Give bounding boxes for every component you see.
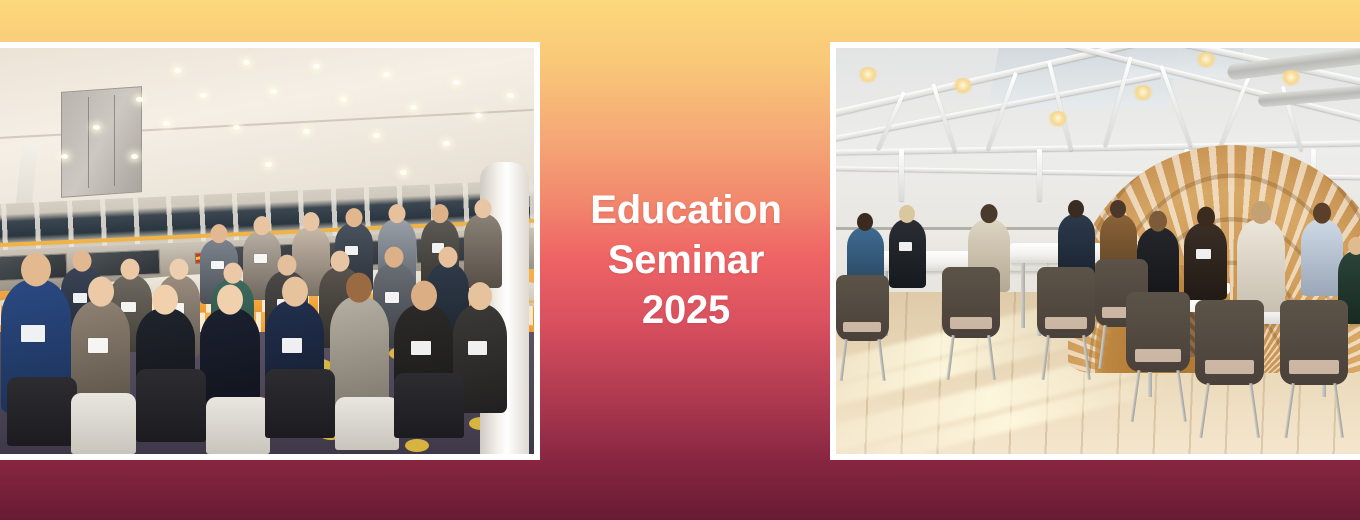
pendant-light (952, 78, 974, 94)
pendant-light (1132, 85, 1154, 101)
person-head (1110, 200, 1126, 218)
roof-column (899, 149, 904, 201)
auditorium-seat (335, 397, 400, 450)
person-head (121, 259, 140, 280)
education-seminar-banner: Education Seminar 2025 (0, 0, 1360, 520)
name-badge (899, 242, 912, 251)
seminar-chair (1195, 300, 1264, 438)
person-figure (1301, 219, 1343, 296)
person-head (1348, 237, 1360, 255)
chair-leg (840, 339, 848, 381)
person-head (431, 204, 448, 223)
person-head (169, 259, 188, 280)
person-head (345, 208, 362, 227)
person-head (331, 251, 350, 272)
person-head (73, 251, 92, 272)
person-head (1313, 202, 1331, 223)
ceiling-downlight (270, 89, 277, 94)
seminar-chair (1037, 267, 1095, 381)
chair-leg (1083, 335, 1092, 380)
person-head (1197, 206, 1215, 227)
person-head (211, 224, 228, 243)
auditorium-seat (7, 377, 77, 446)
name-badge (254, 254, 267, 263)
person-head (857, 213, 873, 231)
seminar-chair (1126, 292, 1189, 422)
person-head (899, 204, 915, 222)
name-badge (211, 261, 224, 269)
chair-pad (950, 317, 992, 328)
chair-leg (1199, 383, 1210, 438)
name-badge (21, 325, 45, 342)
title-line-3: 2025 (642, 285, 730, 335)
chair-leg (1098, 325, 1106, 369)
chair-leg (946, 335, 955, 380)
person-figure (1237, 219, 1285, 312)
auditorium-seat (136, 369, 206, 442)
person-head (277, 255, 296, 276)
ceiling-downlight (61, 154, 68, 159)
chair-pad (1289, 360, 1338, 374)
person-head (981, 204, 998, 223)
person-head (385, 247, 404, 268)
photo-frame-right (830, 42, 1360, 460)
person-head (411, 280, 437, 310)
photo-seminar-hall-wooden-dome (836, 48, 1360, 454)
person-head (223, 263, 242, 284)
title-line-1: Education (590, 185, 782, 235)
chair-leg (1041, 335, 1050, 380)
ceiling-downlight (136, 97, 143, 102)
photo-frame-left (0, 42, 540, 460)
ceiling-downlight (507, 93, 514, 98)
ceiling-downlight (93, 125, 100, 130)
carpet-dot (405, 439, 429, 452)
auditorium-seat (206, 397, 271, 454)
person-head (468, 282, 492, 310)
chair-leg (1176, 370, 1186, 422)
name-badge (73, 293, 88, 303)
chair-leg (1249, 383, 1260, 438)
person-figure (1184, 223, 1226, 300)
ceiling-downlight (475, 113, 482, 118)
seminar-chair (942, 267, 1000, 381)
person-figure (889, 219, 926, 288)
roof-column (1037, 149, 1042, 201)
ceiling-downlight (131, 154, 138, 159)
name-badge (282, 338, 302, 353)
person-head (282, 276, 308, 306)
auditorium-seat (394, 373, 464, 438)
person-head (388, 204, 405, 223)
chair-leg (1130, 370, 1140, 422)
ceiling-downlight (340, 97, 347, 102)
chair-leg (878, 339, 886, 381)
name-badge (121, 302, 136, 312)
ceiling-downlight (373, 133, 380, 138)
chair-leg (988, 335, 997, 380)
auditorium-seat (265, 369, 335, 438)
ceiling-downlight (200, 93, 207, 98)
name-badge (385, 292, 400, 303)
ceiling-downlight (233, 125, 240, 130)
person-figure (464, 214, 502, 287)
person-head (21, 253, 51, 287)
ceiling-downlight (410, 105, 417, 110)
chair-pad (1045, 317, 1087, 328)
person-head (88, 276, 114, 306)
person-head (346, 272, 372, 302)
person-head (152, 284, 178, 314)
ceiling-downlight (265, 162, 272, 167)
ceiling-downlight (163, 121, 170, 126)
title-line-2: Seminar (608, 235, 764, 285)
chair-leg (1284, 383, 1295, 438)
name-badge (88, 338, 108, 353)
chair-pad (1205, 360, 1254, 374)
chair-leg (1333, 383, 1344, 438)
person-head (254, 216, 271, 235)
pendant-light (1195, 52, 1217, 68)
person-head (1068, 200, 1084, 218)
person-head (302, 212, 319, 231)
name-badge (468, 341, 486, 355)
table-leg (1021, 263, 1025, 328)
person-head (1251, 201, 1271, 224)
ceiling-downlight (400, 170, 407, 175)
name-badge (411, 341, 431, 355)
seminar-chair (1280, 300, 1349, 438)
person-head (438, 247, 457, 268)
name-badge (1196, 249, 1210, 259)
person-figure-foreground (330, 296, 389, 414)
auditorium-seat (71, 393, 136, 454)
pendant-light (1280, 70, 1302, 86)
pendant-light (857, 67, 879, 83)
person-head (217, 284, 243, 314)
photo-european-parliament-hemicycle (0, 48, 534, 454)
chair-pad (1135, 349, 1181, 362)
ceiling-downlight (303, 129, 310, 134)
banner-title-block: Education Seminar 2025 (540, 0, 832, 520)
person-head (474, 200, 491, 219)
person-head (1149, 210, 1167, 231)
ceiling-vent-panel (61, 86, 142, 197)
seminar-chair (836, 275, 889, 381)
ceiling-downlight (174, 68, 181, 73)
chair-pad (843, 322, 881, 333)
